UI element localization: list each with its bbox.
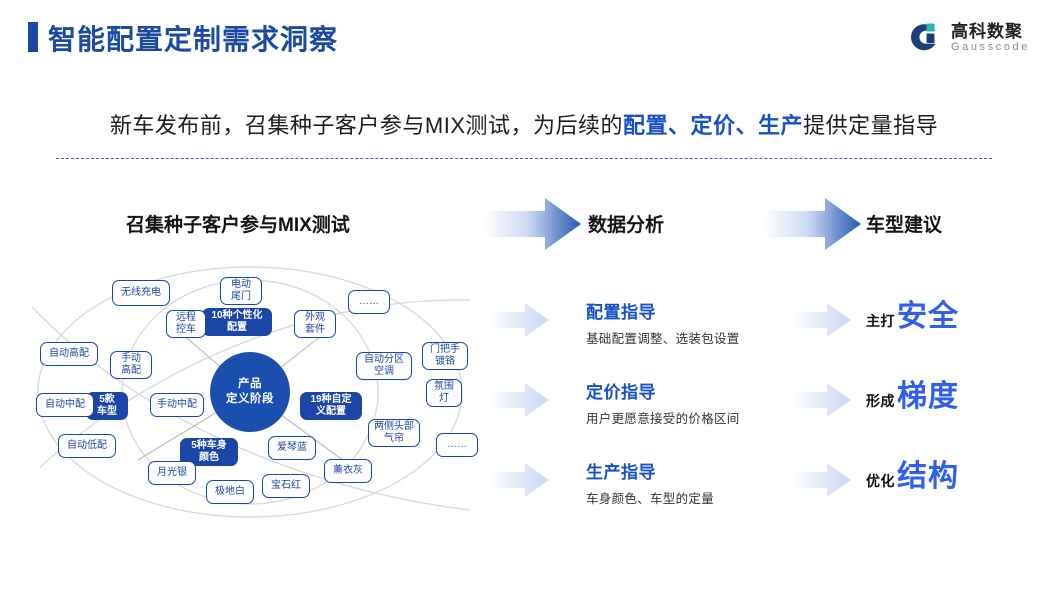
node-line-1: 外观 bbox=[305, 312, 325, 324]
node-line-1: 两侧头部 bbox=[374, 421, 414, 433]
node-line-2: 镀铬 bbox=[430, 356, 460, 368]
diagram-node-chrome-door-handle[interactable]: 门把手 镀铬 bbox=[422, 342, 468, 370]
analysis-title: 配置指导 bbox=[586, 298, 740, 323]
diagram-category-10-personalized[interactable]: 10种个性化 配置 bbox=[202, 308, 272, 336]
analysis-item-production: 生产指导 车身颜色、车型的定量 bbox=[586, 458, 714, 507]
row-arrow-right-2-icon bbox=[789, 383, 851, 417]
node-line-1: 19种自定 bbox=[310, 394, 351, 406]
suggestion-keyword: 结构 bbox=[897, 462, 959, 492]
title-accent-bar bbox=[28, 22, 38, 52]
analysis-item-config: 配置指导 基础配置调整、选装包设置 bbox=[586, 298, 740, 347]
column-header-model-suggestion: 车型建议 bbox=[866, 210, 942, 237]
row-arrow-left-2-icon bbox=[487, 383, 549, 417]
diagram-node-auto-high-trim[interactable]: 自动高配 bbox=[40, 342, 98, 366]
suggestion-item-structure: 优化 结构 bbox=[866, 462, 959, 492]
node-line-1: 极地白 bbox=[215, 486, 245, 498]
node-line-1: 自动中配 bbox=[45, 399, 85, 411]
analysis-title: 定价指导 bbox=[586, 378, 740, 403]
row-arrow-right-3-icon bbox=[789, 463, 851, 497]
diagram-node-side-curtain-airbag[interactable]: 两侧头部 气帘 bbox=[368, 419, 420, 447]
diagram-node-color-lavender-grey[interactable]: 薰衣灰 bbox=[324, 459, 372, 483]
node-line-2: 配置 bbox=[211, 322, 262, 334]
node-line-1: 远程 bbox=[176, 312, 196, 324]
flow-arrow-1-icon bbox=[483, 198, 581, 250]
suggestion-prefix: 优化 bbox=[866, 471, 895, 491]
diagram-node-ellipsis-right[interactable]: …… bbox=[436, 433, 478, 457]
node-line-1: …… bbox=[359, 296, 379, 308]
node-line-2: 车型 bbox=[97, 406, 117, 418]
node-line-2: 义配置 bbox=[310, 406, 351, 418]
diagram-node-dual-zone-ac[interactable]: 自动分区 空调 bbox=[356, 352, 412, 380]
row-arrow-right-1-icon bbox=[789, 303, 851, 337]
node-line-1: 爱琴蓝 bbox=[277, 442, 307, 454]
node-line-1: …… bbox=[447, 439, 467, 451]
node-line-1: 氛围 bbox=[434, 381, 454, 393]
analysis-desc: 用户更愿意接受的价格区间 bbox=[586, 408, 740, 427]
node-line-2: 控车 bbox=[176, 324, 196, 336]
subtitle-highlight: 配置、定价、生产 bbox=[623, 113, 803, 138]
mix-test-diagram: 产品 定义阶段 10种个性化 配置 19种自定 义配置 5款 车型 5种车身 颜… bbox=[18, 252, 488, 542]
flow-arrow-2-icon bbox=[763, 198, 861, 250]
hub-line-2: 定义阶段 bbox=[226, 392, 274, 407]
subtitle-part2: 提供定量指导 bbox=[803, 113, 938, 138]
node-line-2: 套件 bbox=[305, 324, 325, 336]
diagram-node-color-polar-white[interactable]: 极地白 bbox=[206, 480, 254, 504]
node-line-2: 灯 bbox=[434, 393, 454, 405]
analysis-title: 生产指导 bbox=[586, 458, 714, 483]
node-line-1: 薰衣灰 bbox=[333, 465, 363, 477]
diagram-node-power-tailgate[interactable]: 电动 尾门 bbox=[220, 277, 262, 305]
node-line-1: 月光银 bbox=[157, 467, 187, 479]
page-title: 智能配置定制需求洞察 bbox=[48, 18, 338, 58]
slide-root: 智能配置定制需求洞察 高科数聚 Gausscode 新车发布前，召集种子客户参与… bbox=[0, 0, 1048, 589]
logo-name-cn: 高科数聚 bbox=[951, 22, 1030, 41]
slide-header: 智能配置定制需求洞察 高科数聚 Gausscode bbox=[0, 0, 1048, 72]
node-line-2: 尾门 bbox=[231, 291, 251, 303]
diagram-node-auto-mid-trim[interactable]: 自动中配 bbox=[36, 393, 94, 417]
node-line-2: 空调 bbox=[364, 366, 404, 378]
diagram-node-ambient-light[interactable]: 氛围 灯 bbox=[426, 379, 462, 407]
node-line-1: 自动分区 bbox=[364, 354, 404, 366]
node-line-1: 门把手 bbox=[430, 344, 460, 356]
node-line-1: 自动高配 bbox=[49, 348, 89, 360]
diagram-node-color-moonlight-silver[interactable]: 月光银 bbox=[148, 461, 196, 485]
analysis-desc: 车身颜色、车型的定量 bbox=[586, 488, 714, 507]
analysis-desc: 基础配置调整、选装包设置 bbox=[586, 328, 740, 347]
node-line-1: 手动 bbox=[121, 353, 141, 365]
diagram-node-color-aegean-blue[interactable]: 爱琴蓝 bbox=[268, 436, 316, 460]
diagram-node-auto-low-trim[interactable]: 自动低配 bbox=[58, 434, 116, 458]
node-line-1: 无线充电 bbox=[121, 287, 161, 299]
column-header-mix-test: 召集种子客户参与MIX测试 bbox=[126, 210, 350, 237]
node-line-1: 自动低配 bbox=[67, 440, 107, 452]
node-line-1: 手动中配 bbox=[157, 399, 197, 411]
suggestion-prefix: 主打 bbox=[866, 311, 895, 331]
diagram-node-manual-mid-trim[interactable]: 手动中配 bbox=[150, 393, 204, 417]
suggestion-keyword: 安全 bbox=[897, 302, 959, 332]
suggestion-keyword: 梯度 bbox=[897, 382, 959, 412]
row-arrow-left-3-icon bbox=[487, 463, 549, 497]
subtitle: 新车发布前，召集种子客户参与MIX测试，为后续的配置、定价、生产提供定量指导 bbox=[0, 108, 1048, 140]
brand-logo: 高科数聚 Gausscode bbox=[905, 16, 1030, 60]
hub-line-1: 产品 bbox=[226, 377, 274, 392]
diagram-node-ellipsis-top[interactable]: …… bbox=[348, 290, 390, 314]
diagram-node-color-ruby-red[interactable]: 宝石红 bbox=[262, 474, 310, 498]
node-line-1: 10种个性化 bbox=[211, 310, 262, 322]
subtitle-part1: 新车发布前，召集种子客户参与MIX测试，为后续的 bbox=[110, 113, 623, 138]
diagram-node-wireless-charging[interactable]: 无线充电 bbox=[112, 280, 170, 306]
analysis-item-pricing: 定价指导 用户更愿意接受的价格区间 bbox=[586, 378, 740, 427]
logo-name-en: Gausscode bbox=[951, 41, 1030, 54]
node-line-1: 5款 bbox=[97, 394, 117, 406]
logo-text: 高科数聚 Gausscode bbox=[951, 22, 1030, 54]
diagram-node-manual-high-trim[interactable]: 手动 高配 bbox=[110, 351, 152, 379]
diagram-category-19-custom[interactable]: 19种自定 义配置 bbox=[300, 392, 362, 420]
row-arrow-left-1-icon bbox=[487, 303, 549, 337]
diagram-node-exterior-kit[interactable]: 外观 套件 bbox=[294, 310, 336, 338]
node-line-1: 电动 bbox=[231, 279, 251, 291]
dashed-divider bbox=[56, 158, 992, 159]
suggestion-prefix: 形成 bbox=[866, 391, 895, 411]
node-line-1: 宝石红 bbox=[271, 480, 301, 492]
column-header-data-analysis: 数据分析 bbox=[588, 210, 664, 237]
diagram-node-remote-control[interactable]: 远程 控车 bbox=[166, 310, 206, 338]
diagram-hub: 产品 定义阶段 bbox=[210, 352, 290, 432]
suggestion-item-safety: 主打 安全 bbox=[866, 302, 959, 332]
suggestion-item-tier: 形成 梯度 bbox=[866, 382, 959, 412]
node-line-2: 高配 bbox=[121, 365, 141, 377]
node-line-2: 颜色 bbox=[191, 452, 227, 464]
logo-mark-icon bbox=[905, 21, 943, 55]
node-line-1: 5种车身 bbox=[191, 440, 227, 452]
node-line-2: 气帘 bbox=[374, 433, 414, 445]
